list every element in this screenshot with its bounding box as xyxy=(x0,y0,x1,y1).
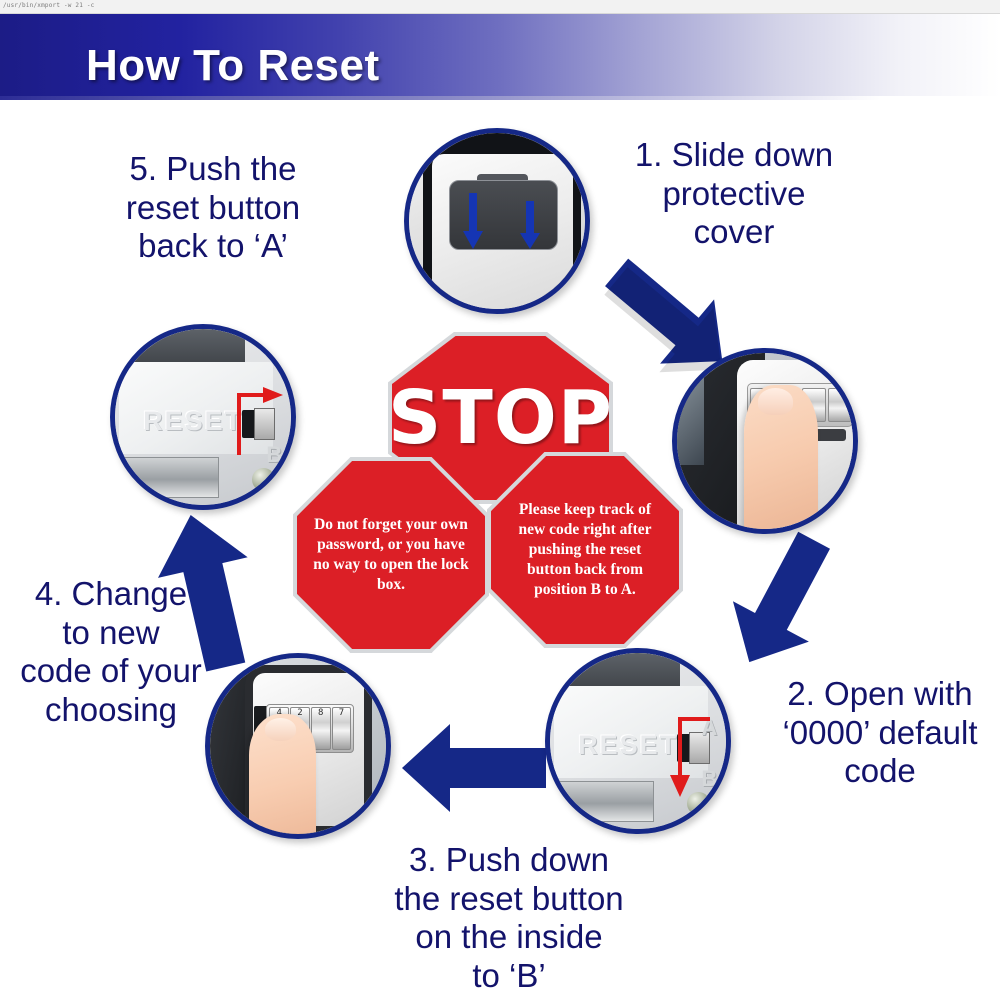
warning-sign-keep-track: Please keep track of new code right afte… xyxy=(487,452,683,648)
warning-sign-forget-password: Do not forget your own password, or you … xyxy=(293,457,489,653)
window-path-text: /usr/bin/xmport -w 21 -c xyxy=(3,2,95,9)
latch-bar xyxy=(557,781,654,822)
photo-step-5: RESET B xyxy=(110,324,296,510)
fingernail xyxy=(265,718,297,741)
reset-embossed-label: RESET xyxy=(578,730,678,761)
red-arrow-a-to-b-icon xyxy=(666,715,712,801)
photo-step-2 xyxy=(672,348,858,534)
page-title: How To Reset xyxy=(86,41,380,91)
arrow-3-to-4 xyxy=(398,718,550,818)
step-2-caption: 2. Open with ‘0000’ default code xyxy=(760,675,1000,791)
down-arrow-right-icon xyxy=(519,201,532,251)
photo-step-4: 4 2 8 7 xyxy=(205,653,391,839)
infographic-page: /usr/bin/xmport -w 21 -c How To Reset xyxy=(0,0,1000,995)
header-banner: How To Reset xyxy=(0,14,1000,96)
photo-step-3: RESET A B xyxy=(545,648,731,834)
step-1-caption: 1. Slide down protective cover xyxy=(586,136,882,252)
photo-step-1 xyxy=(404,128,590,314)
latch-bar xyxy=(122,457,219,498)
dial-4 xyxy=(828,388,852,423)
warning-text: Do not forget your own password, or you … xyxy=(297,461,485,649)
screw-head-icon xyxy=(252,468,275,491)
step-3-caption: 3. Push down the reset button on the ins… xyxy=(344,841,674,995)
red-arrow-b-to-a-icon xyxy=(225,387,285,459)
dial-4: 7 xyxy=(332,707,352,750)
window-glass-reflection xyxy=(672,350,704,464)
header-underline xyxy=(0,96,1000,100)
lockbox-front-face xyxy=(432,154,573,314)
step-4-caption: 4. Change to new code of your choosing xyxy=(2,575,220,729)
step-5-caption: 5. Push the reset button back to ‘A’ xyxy=(58,150,368,266)
window-top-strip: /usr/bin/xmport -w 21 -c xyxy=(0,0,1000,14)
arrow-2-to-3 xyxy=(704,527,854,677)
down-arrow-left-icon xyxy=(462,193,475,251)
warning-text: Please keep track of new code right afte… xyxy=(491,456,679,644)
fingernail xyxy=(758,388,793,414)
